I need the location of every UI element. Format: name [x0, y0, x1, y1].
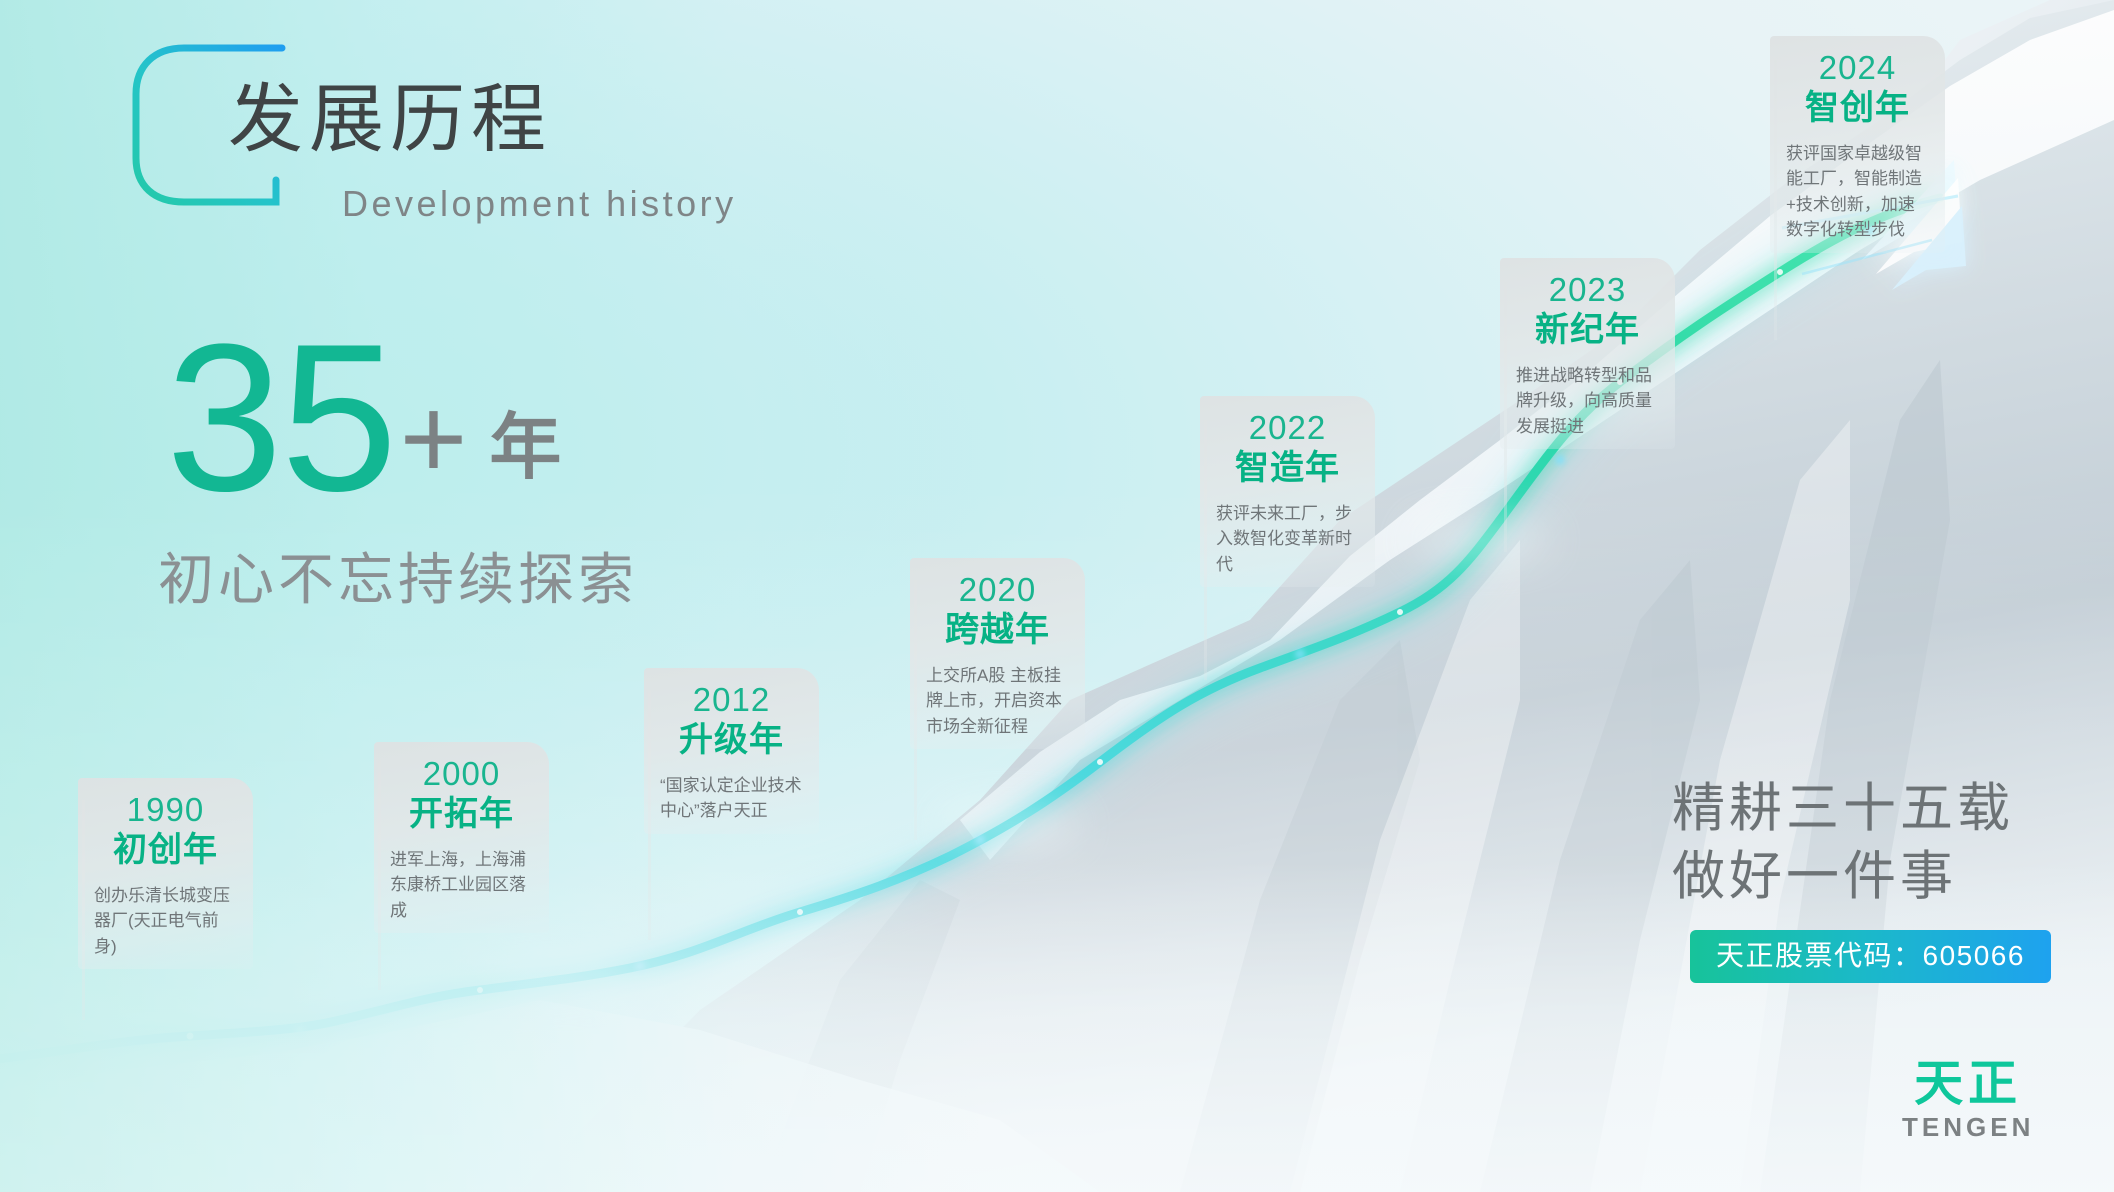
timeline-card-year: 2023	[1512, 272, 1663, 309]
timeline-card-label: 跨越年	[922, 610, 1073, 651]
slogan-line-1: 精耕三十五载	[1672, 775, 2014, 843]
timeline-card-1990[interactable]: 1990 初创年 创办乐清长城变压器厂(天正电气前身)	[78, 778, 253, 969]
timeline-card-desc: 获评未来工厂，步入数智化变革新时代	[1212, 501, 1363, 578]
timeline-card-label: 开拓年	[386, 794, 537, 835]
slogan-line-2: 做好一件事	[1672, 843, 2014, 911]
brand-logo-en: TENGEN	[1902, 1114, 2034, 1140]
brand-logo-cn: 天正	[1902, 1060, 2034, 1109]
timeline-card-desc: 进军上海，上海浦东康桥工业园区落成	[386, 847, 537, 924]
timeline-card-2024[interactable]: 2024 智创年 获评国家卓越级智能工厂，智能制造+技术创新，加速数字化转型步伐	[1770, 36, 1945, 253]
years-number: 35	[166, 330, 396, 506]
timeline-card-year: 2000	[386, 756, 537, 793]
timeline-card-label: 智创年	[1782, 88, 1933, 129]
timeline-card-year: 1990	[90, 792, 241, 829]
page-title: 发展历程	[228, 82, 552, 157]
timeline-card-label: 新纪年	[1512, 310, 1663, 351]
timeline-card-desc: “国家认定企业技术中心”落户天正	[656, 773, 807, 824]
stock-code-badge: 天正股票代码：605066	[1690, 930, 2051, 983]
timeline-card-desc: 上交所A股 主板挂牌上市，开启资本市场全新征程	[922, 663, 1073, 740]
timeline-card-year: 2012	[656, 682, 807, 719]
brand-logo: 天正 TENGEN	[1902, 1060, 2034, 1140]
years-stat-subtitle: 初心不忘持续探索	[158, 552, 638, 608]
timeline-card-year: 2022	[1212, 410, 1363, 447]
timeline-card-desc: 推进战略转型和品牌升级，向高质量发展挺进	[1512, 363, 1663, 440]
timeline-card-label: 升级年	[656, 720, 807, 761]
timeline-card-year: 2024	[1782, 50, 1933, 87]
years-stat: 35 + 年	[166, 330, 561, 506]
page-subtitle-en: Development history	[342, 186, 737, 222]
timeline-card-2012[interactable]: 2012 升级年 “国家认定企业技术中心”落户天正	[644, 668, 819, 834]
timeline-card-label: 初创年	[90, 830, 241, 871]
slogan: 精耕三十五载 做好一件事	[1672, 775, 2014, 911]
infographic-canvas: 发展历程 Development history 35 + 年 初心不忘持续探索…	[0, 0, 2114, 1192]
years-unit: 年	[489, 412, 561, 484]
timeline-card-2022[interactable]: 2022 智造年 获评未来工厂，步入数智化变革新时代	[1200, 396, 1375, 587]
timeline-card-year: 2020	[922, 572, 1073, 609]
timeline-card-desc: 获评国家卓越级智能工厂，智能制造+技术创新，加速数字化转型步伐	[1782, 141, 1933, 243]
years-plus-sign: +	[400, 380, 468, 496]
timeline-card-2000[interactable]: 2000 开拓年 进军上海，上海浦东康桥工业园区落成	[374, 742, 549, 933]
timeline-card-desc: 创办乐清长城变压器厂(天正电气前身)	[90, 883, 241, 960]
timeline-card-2020[interactable]: 2020 跨越年 上交所A股 主板挂牌上市，开启资本市场全新征程	[910, 558, 1085, 749]
timeline-card-label: 智造年	[1212, 448, 1363, 489]
timeline-card-2023[interactable]: 2023 新纪年 推进战略转型和品牌升级，向高质量发展挺进	[1500, 258, 1675, 449]
